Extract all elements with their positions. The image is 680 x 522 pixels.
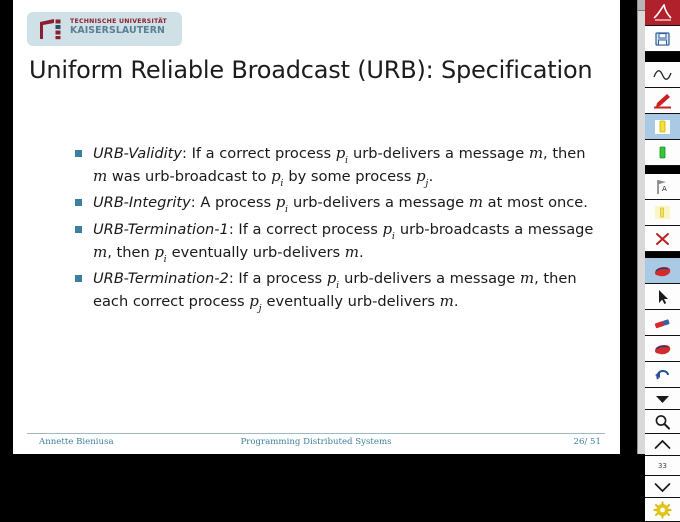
math-symbol-subscript: pi (271, 167, 284, 185)
property-colon: : (182, 145, 192, 162)
page-number-display[interactable]: 33 (645, 456, 680, 476)
math-symbol-subscript: pi (154, 243, 167, 261)
annotation-toolbar[interactable]: A33 (645, 0, 680, 454)
bullet-square-icon (75, 150, 82, 157)
red-hand-icon (652, 340, 673, 358)
slide-title: Uniform Reliable Broadcast (URB): Specif… (29, 56, 609, 84)
laser-pointer-tool[interactable] (645, 336, 680, 362)
bullet-square-icon (75, 199, 82, 206)
undo-button[interactable] (645, 362, 680, 388)
chevron-up-icon (652, 436, 673, 454)
footer-course: Programming Distributed Systems (240, 437, 391, 447)
body-text: , then (107, 244, 154, 261)
bullet-square-icon (75, 226, 82, 233)
eraser-tool[interactable] (645, 310, 680, 336)
slide-viewport[interactable]: TECHNISCHE UNIVERSITÄT KAISERSLAUTERN Un… (13, 0, 620, 454)
highlight-block-tool[interactable] (645, 200, 680, 226)
delete-annotation-button[interactable] (645, 226, 680, 252)
math-symbol-subscript: pj (249, 292, 262, 310)
logo-wordmark: TECHNISCHE UNIVERSITÄT KAISERSLAUTERN (70, 19, 167, 36)
body-text: If a correct process (192, 145, 336, 162)
list-item: URB-Termination-2: If a process pi urb-d… (75, 269, 595, 314)
math-symbol: m (345, 243, 359, 261)
body-text: . (454, 293, 459, 310)
body-text: urb-broadcasts a message (395, 221, 593, 238)
zoom-search-button[interactable] (645, 410, 680, 434)
math-symbol: m (440, 292, 454, 310)
body-text: urb-delivers a message (339, 270, 519, 287)
floppy-disk-icon (652, 30, 673, 48)
toolbar-separator-1 (645, 52, 680, 62)
tu-kaiserslautern-mark (39, 18, 63, 40)
red-pen-stroke (652, 4, 673, 22)
red-marker-tool[interactable] (645, 88, 680, 114)
math-symbol-subscript: pi (327, 269, 340, 287)
freehand-line-tool[interactable] (645, 62, 680, 88)
footer-author: Annette Bieniusa (39, 437, 114, 447)
green-bar-icon (652, 144, 673, 162)
previous-page-button[interactable] (645, 434, 680, 456)
svg-text:A: A (662, 185, 667, 193)
body-text: , then (543, 145, 585, 162)
gear-icon (652, 501, 673, 519)
annotation-pen-tool[interactable] (645, 0, 680, 26)
property-name: URB-Integrity (93, 194, 191, 211)
scroll-down-button[interactable] (645, 388, 680, 410)
university-logo: TECHNISCHE UNIVERSITÄT KAISERSLAUTERN (27, 12, 182, 46)
toolbar-separator-2 (645, 166, 680, 174)
body-text: . (429, 168, 434, 185)
body-text: If a correct process (238, 221, 382, 238)
list-item: URB-Termination-1: If a correct process … (75, 220, 595, 265)
footer-page-number: 26/ 51 (574, 437, 602, 447)
bullet-square-icon (75, 275, 82, 282)
list-item-text: URB-Validity: If a correct process pi ur… (93, 144, 595, 189)
body-text: . (359, 244, 364, 261)
undo-arrow-icon (652, 366, 673, 384)
math-symbol: m (93, 243, 107, 261)
red-marker-icon (652, 92, 673, 110)
next-page-button[interactable] (645, 476, 680, 498)
settings-button[interactable] (645, 498, 680, 522)
property-name: URB-Termination-1 (93, 221, 229, 238)
body-text: urb-delivers a message (348, 145, 528, 162)
page-number-label: 33 (658, 462, 667, 470)
yellow-bar-icon (652, 118, 673, 136)
math-symbol: m (520, 269, 534, 287)
property-colon: : (191, 194, 201, 211)
list-item: URB-Validity: If a correct process pi ur… (75, 144, 595, 189)
math-symbol: m (529, 144, 543, 162)
slide-page: TECHNISCHE UNIVERSITÄT KAISERSLAUTERN Un… (13, 0, 620, 454)
slide-footer: Annette Bieniusa Programming Distributed… (27, 437, 605, 451)
math-symbol: m (469, 193, 483, 211)
body-text: at most once. (483, 194, 588, 211)
body-text: A process (200, 194, 275, 211)
logo-line-2: KAISERSLAUTERN (70, 26, 167, 36)
math-symbol-subscript: pi (336, 144, 349, 162)
triangle-down-icon (652, 390, 673, 408)
yellow-block-icon (652, 204, 673, 222)
text-annotation-tool[interactable]: A (645, 174, 680, 200)
body-text: was urb-broadcast to (107, 168, 271, 185)
body-text: eventually urb-delivers (262, 293, 440, 310)
list-item-text: URB-Termination-1: If a correct process … (93, 220, 595, 265)
body-text: eventually urb-delivers (167, 244, 345, 261)
body-text: by some process (284, 168, 416, 185)
list-item-text: URB-Termination-2: If a process pi urb-d… (93, 269, 595, 314)
specification-list: URB-Validity: If a correct process pi ur… (75, 144, 595, 318)
pointer-hand-tool[interactable] (645, 258, 680, 284)
yellow-highlighter-tool[interactable] (645, 114, 680, 140)
property-name: URB-Termination-2 (93, 270, 229, 287)
squiggle-icon (652, 66, 673, 84)
property-colon: : (229, 221, 239, 238)
list-item-text: URB-Integrity: A process pi urb-delivers… (93, 193, 595, 216)
property-colon: : (229, 270, 239, 287)
list-item: URB-Integrity: A process pi urb-delivers… (75, 193, 595, 216)
green-highlighter-tool[interactable] (645, 140, 680, 166)
property-name: URB-Validity (93, 145, 182, 162)
eraser-icon (652, 314, 673, 332)
body-text: urb-delivers a message (288, 194, 468, 211)
body-text: If a process (238, 270, 326, 287)
magnifier-icon (652, 413, 673, 431)
select-arrow-tool[interactable] (645, 284, 680, 310)
red-x-icon (652, 230, 673, 248)
math-symbol-subscript: pi (276, 193, 289, 211)
math-symbol-subscript: pj (416, 167, 429, 185)
presentation-viewer-window: TECHNISCHE UNIVERSITÄT KAISERSLAUTERN Un… (0, 0, 680, 454)
math-symbol: m (93, 167, 107, 185)
footer-divider (27, 433, 605, 434)
arrow-cursor-icon (652, 288, 673, 306)
text-flag-icon: A (652, 178, 673, 196)
red-hand-icon (652, 262, 673, 280)
save-button[interactable] (645, 26, 680, 52)
math-symbol-subscript: pi (383, 220, 396, 238)
chevron-down-icon (652, 478, 673, 496)
